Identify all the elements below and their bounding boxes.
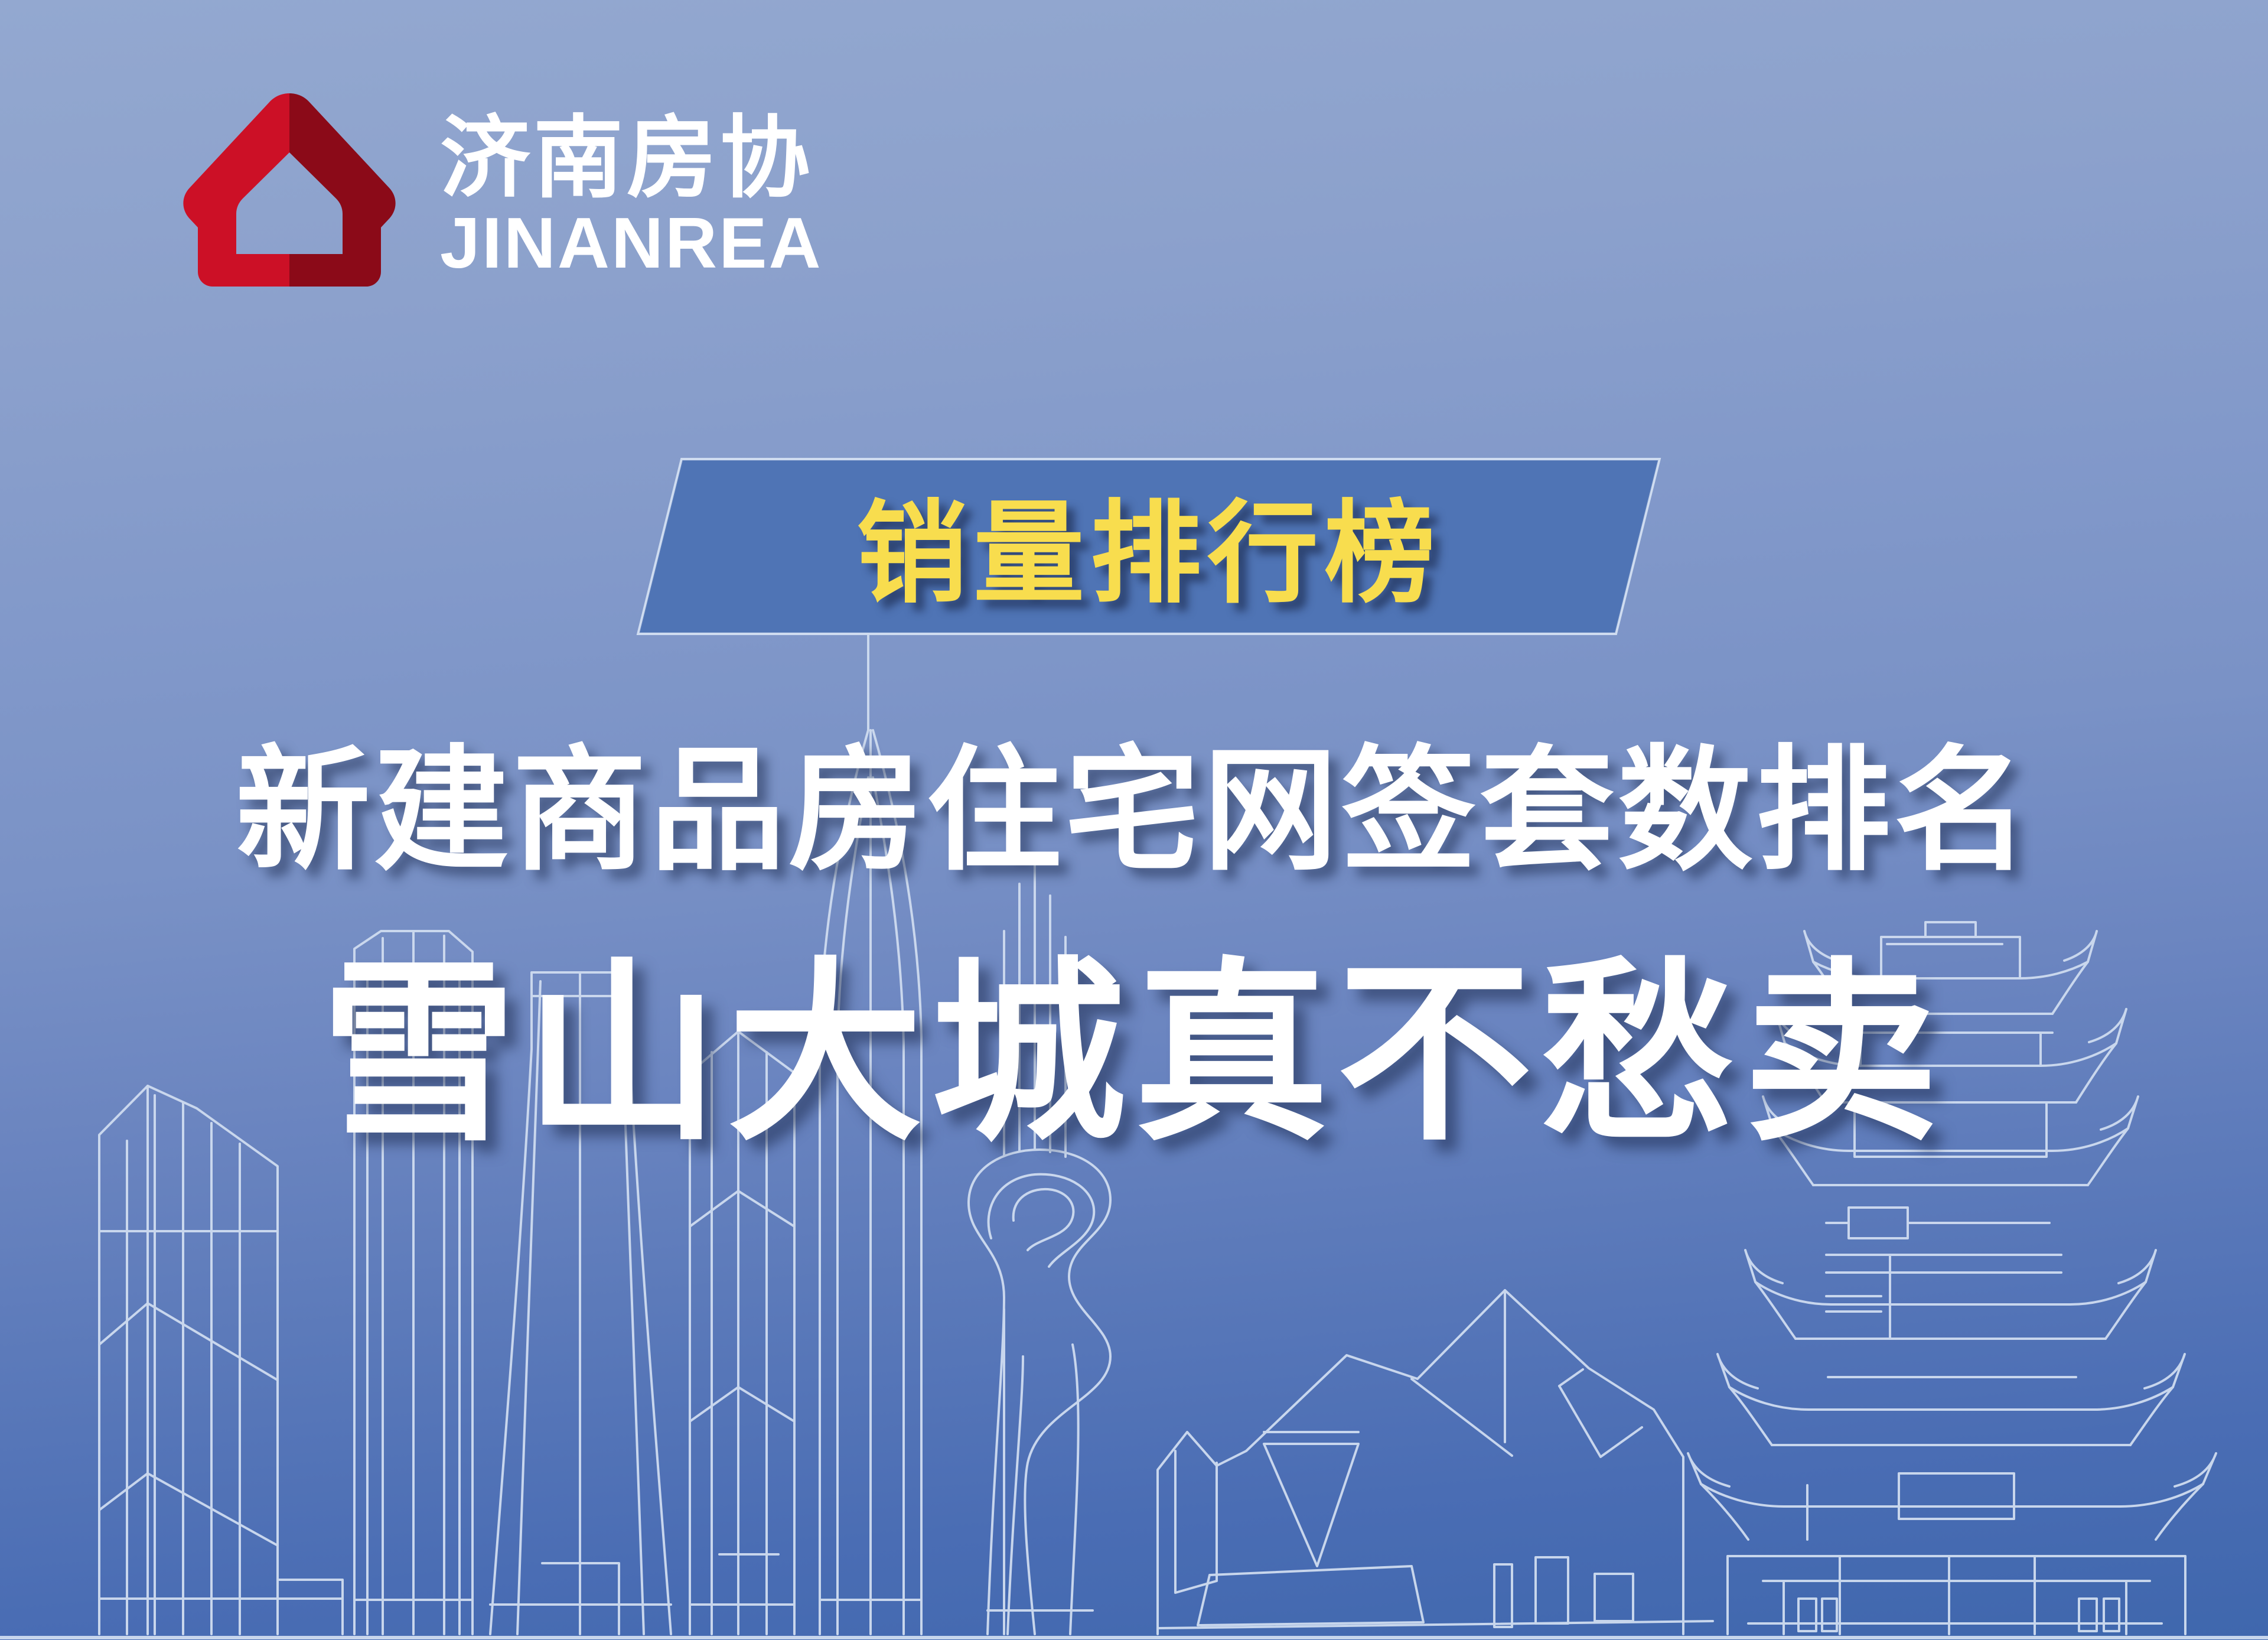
stepped-glass-tower (99, 1086, 343, 1634)
poster-canvas: 济南房协 JINANREA 销量排行榜 新建商品房住宅网签套数排名 雪山大城真不… (0, 0, 2268, 1640)
logo-text-block: 济南房协 JINANREA (440, 93, 823, 279)
headline-line-1: 新建商品房住宅网签套数排名 (0, 736, 2268, 886)
logo-chinese-name: 济南房协 (440, 113, 823, 203)
logo[interactable]: 济南房协 JINANREA (174, 83, 823, 289)
logo-english-name: JINANREA (440, 207, 823, 279)
angular-museum-building (1158, 1290, 1713, 1634)
headline-block: 新建商品房住宅网签套数排名 雪山大城真不愁卖 (0, 736, 2268, 1164)
headline-line-2: 雪山大城真不愁卖 (0, 945, 2268, 1164)
house-pentagon-icon (174, 83, 405, 289)
logo-mark-right-half (289, 93, 396, 287)
sales-ranking-badge[interactable]: 销量排行榜 (659, 458, 1639, 635)
badge-label: 销量排行榜 (659, 458, 1639, 635)
logo-mark-left-half (183, 93, 289, 287)
